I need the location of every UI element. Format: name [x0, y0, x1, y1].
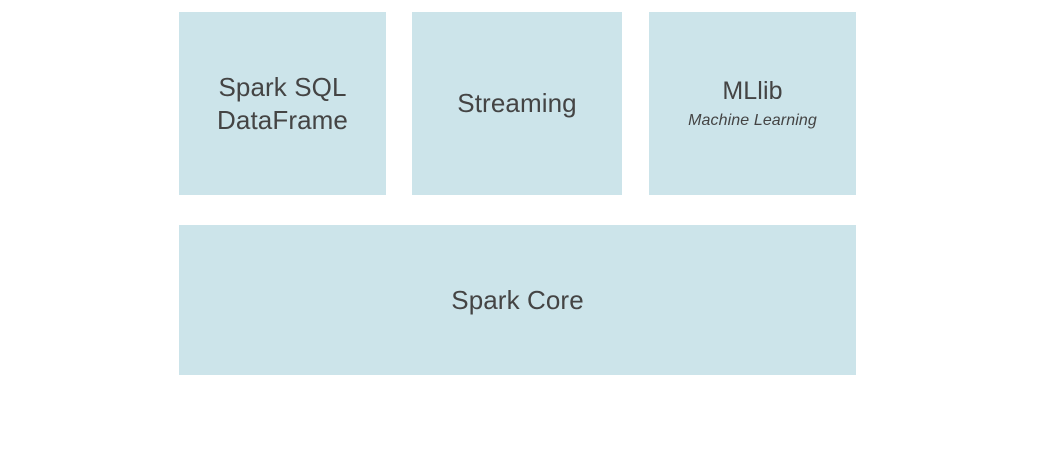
- diagram-box-spark-sql[interactable]: Spark SQL DataFrame: [179, 12, 386, 195]
- diagram-box-spark-core-title: Spark Core: [451, 284, 584, 317]
- architecture-stack-diagram: Spark SQL DataFrame Streaming MLlib Mach…: [0, 0, 1053, 457]
- diagram-box-spark-core[interactable]: Spark Core: [179, 225, 856, 375]
- diagram-box-streaming[interactable]: Streaming: [412, 12, 622, 195]
- diagram-box-mllib-subtitle: Machine Learning: [688, 111, 817, 131]
- diagram-box-mllib-title: MLlib: [722, 76, 782, 108]
- diagram-box-spark-sql-title: Spark SQL DataFrame: [217, 71, 348, 137]
- diagram-box-mllib[interactable]: MLlib Machine Learning: [649, 12, 856, 195]
- diagram-box-streaming-title: Streaming: [457, 87, 576, 120]
